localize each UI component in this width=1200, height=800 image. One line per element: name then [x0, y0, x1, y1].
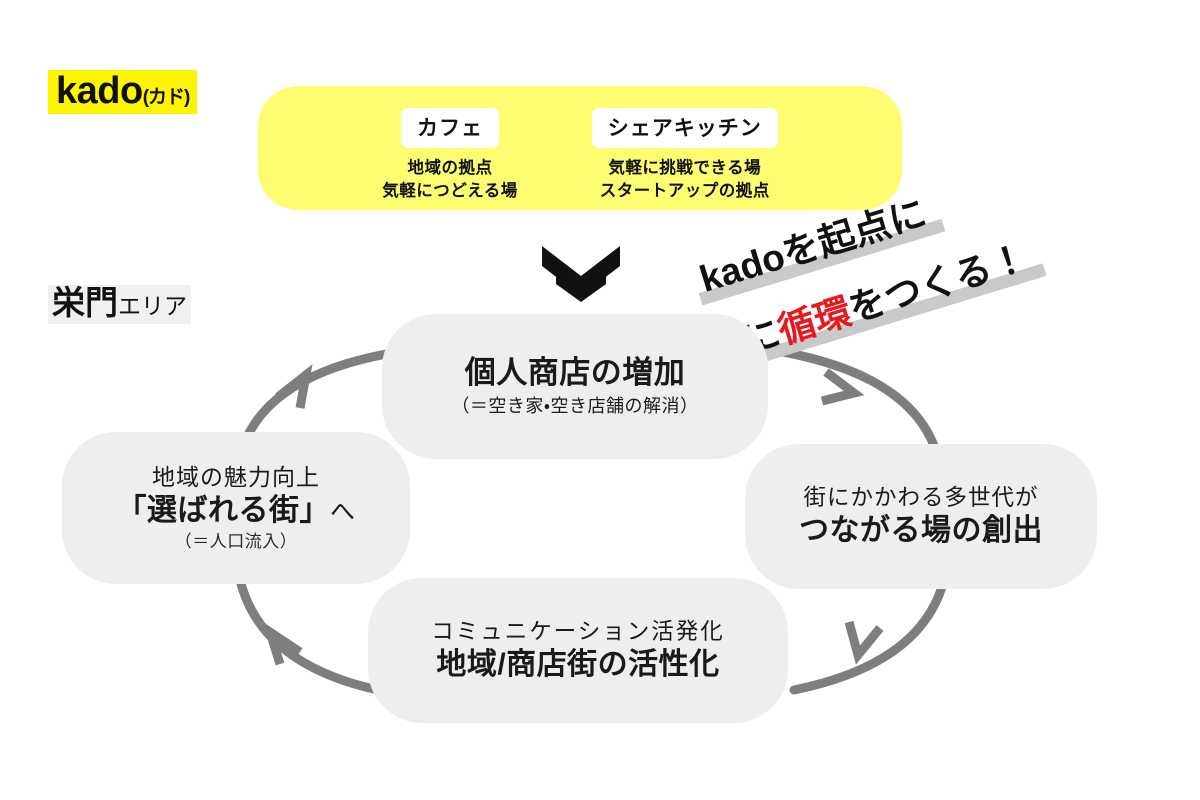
arrowhead-left-to-top [278, 375, 306, 408]
cycle-node-left-bold-text: 「選ばれる街」 [116, 494, 330, 527]
arrowhead-top-to-right [822, 372, 854, 401]
cycle-node-top: 個人商店の増加 （＝空き家・空き店舗の解消） [382, 314, 768, 459]
cycle-node-left-bold: 「選ばれる街」へ [116, 492, 355, 530]
cycle-node-right-light: 街にかかわる多世代が [803, 484, 1038, 512]
hero-tag-cafe: カフェ [401, 108, 499, 148]
hero-tag-share-kitchen: シェアキッチン [592, 108, 778, 148]
cycle-node-right: 街にかかわる多世代が つながる場の創出 [745, 444, 1097, 589]
diagram-canvas: kado(カド) 栄門エリア カフェ 地域の拠点 気軽につどえる場 シェアキッチ… [0, 0, 1200, 800]
hero-column-share-kitchen: シェアキッチン 気軽に挑戦できる場 スタートアップの拠点 [592, 108, 778, 203]
area-suffix: エリア [118, 293, 187, 319]
cycle-node-right-bold: つながる場の創出 [799, 512, 1043, 550]
brand-name: kado [56, 70, 143, 112]
cycle-node-left-light: 地域の魅力向上 [152, 463, 320, 492]
brand-reading: (カド) [143, 87, 190, 108]
hero-desc-cafe: 地域の拠点 気軽につどえる場 [382, 157, 518, 203]
hero-desc-share-kitchen: 気軽に挑戦できる場 スタートアップの拠点 [600, 157, 770, 203]
area-name: 栄門 [52, 284, 118, 321]
hero-column-cafe: カフェ 地域の拠点 気軽につどえる場 [382, 108, 518, 203]
cycle-node-top-note: （＝空き家・空き店舗の解消） [451, 395, 698, 418]
cycle-node-left-note: （＝人口流入） [175, 531, 298, 553]
arrow-arc-bottom-to-left [240, 580, 388, 692]
arrowhead-right-to-bottom [849, 622, 880, 655]
cycle-node-bottom: コミュニケーション活発化 地域/商店街の活性化 [368, 578, 788, 723]
arrow-arc-top-to-right [772, 350, 938, 458]
hero-panel: カフェ 地域の拠点 気軽につどえる場 シェアキッチン 気軽に挑戦できる場 スター… [258, 86, 902, 210]
cycle-node-bottom-bold: 地域/商店街の活性化 [436, 646, 719, 684]
cycle-node-top-bold: 個人商店の増加 [465, 354, 686, 393]
area-label: 栄門エリア [48, 285, 191, 324]
brand-logo: kado(カド) [48, 70, 197, 114]
cycle-node-left-bold-suffix: へ [330, 498, 356, 526]
cycle-node-left: 地域の魅力向上 「選ばれる街」へ （＝人口流入） [62, 432, 410, 584]
cycle-node-bottom-light: コミュニケーション活発化 [431, 618, 725, 646]
double-chevron-down-icon [536, 240, 626, 302]
